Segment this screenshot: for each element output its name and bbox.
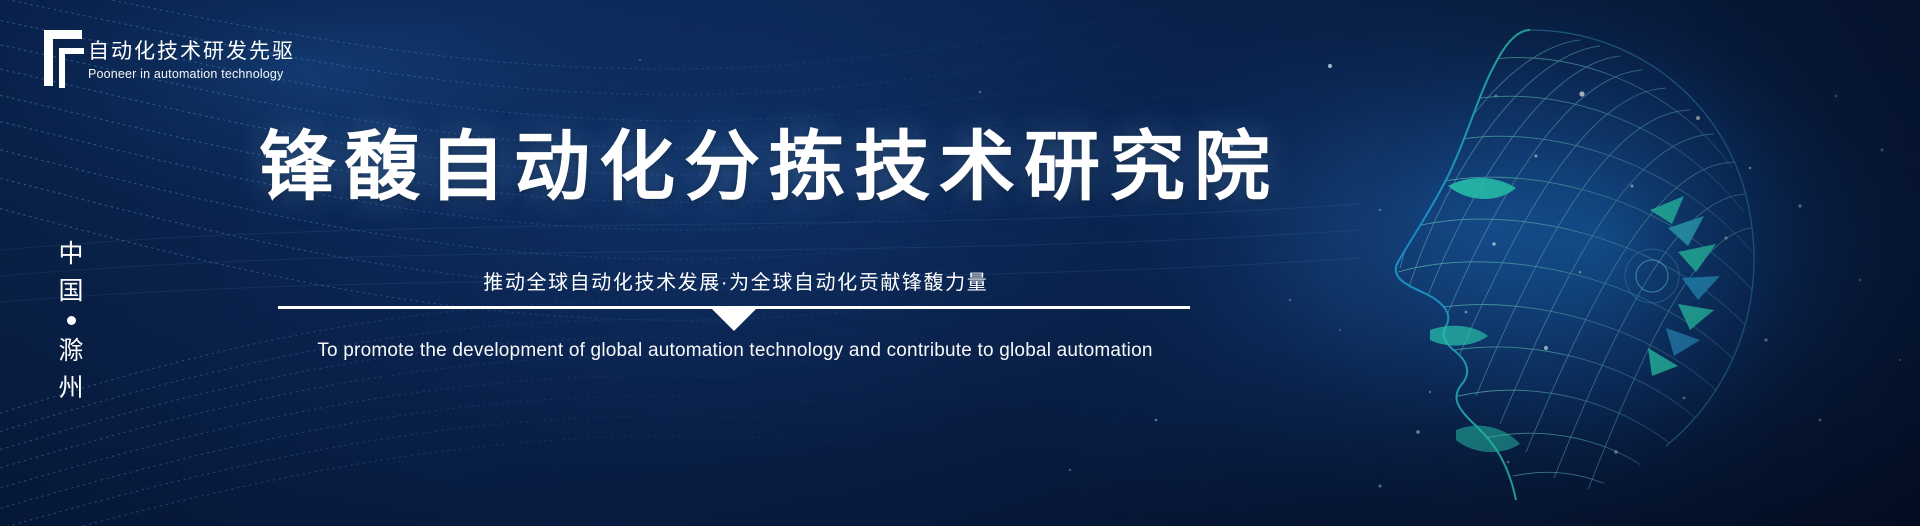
location-char-3: 州 (54, 370, 88, 407)
subtitle-chinese: 推动全球自动化技术发展·为全球自动化贡献锋馥力量 (250, 266, 1220, 295)
location-vertical-text: 中 国 滁 州 (54, 236, 88, 406)
hero-content: 锋馥自动化分拣技术研究院 推动全球自动化技术发展·为全球自动化贡献锋馥力量 To… (250, 0, 1220, 526)
corner-bracket-logo-icon (44, 30, 84, 88)
location-char-2: 滁 (54, 333, 88, 370)
location-char-0: 中 (54, 236, 88, 273)
divider (278, 306, 1190, 332)
wireframe-head-artwork (1280, 0, 1920, 526)
location-separator-dot-icon (67, 316, 76, 325)
page-title: 锋馥自动化分拣技术研究院 (250, 130, 1220, 206)
down-triangle-icon (712, 309, 756, 331)
hero-banner: 自动化技术研发先驱 Pooneer in automation technolo… (0, 0, 1920, 526)
subtitle-english: To promote the development of global aut… (250, 340, 1220, 362)
location-char-1: 国 (54, 273, 88, 310)
wireframe-head-icon (1280, 0, 1920, 526)
